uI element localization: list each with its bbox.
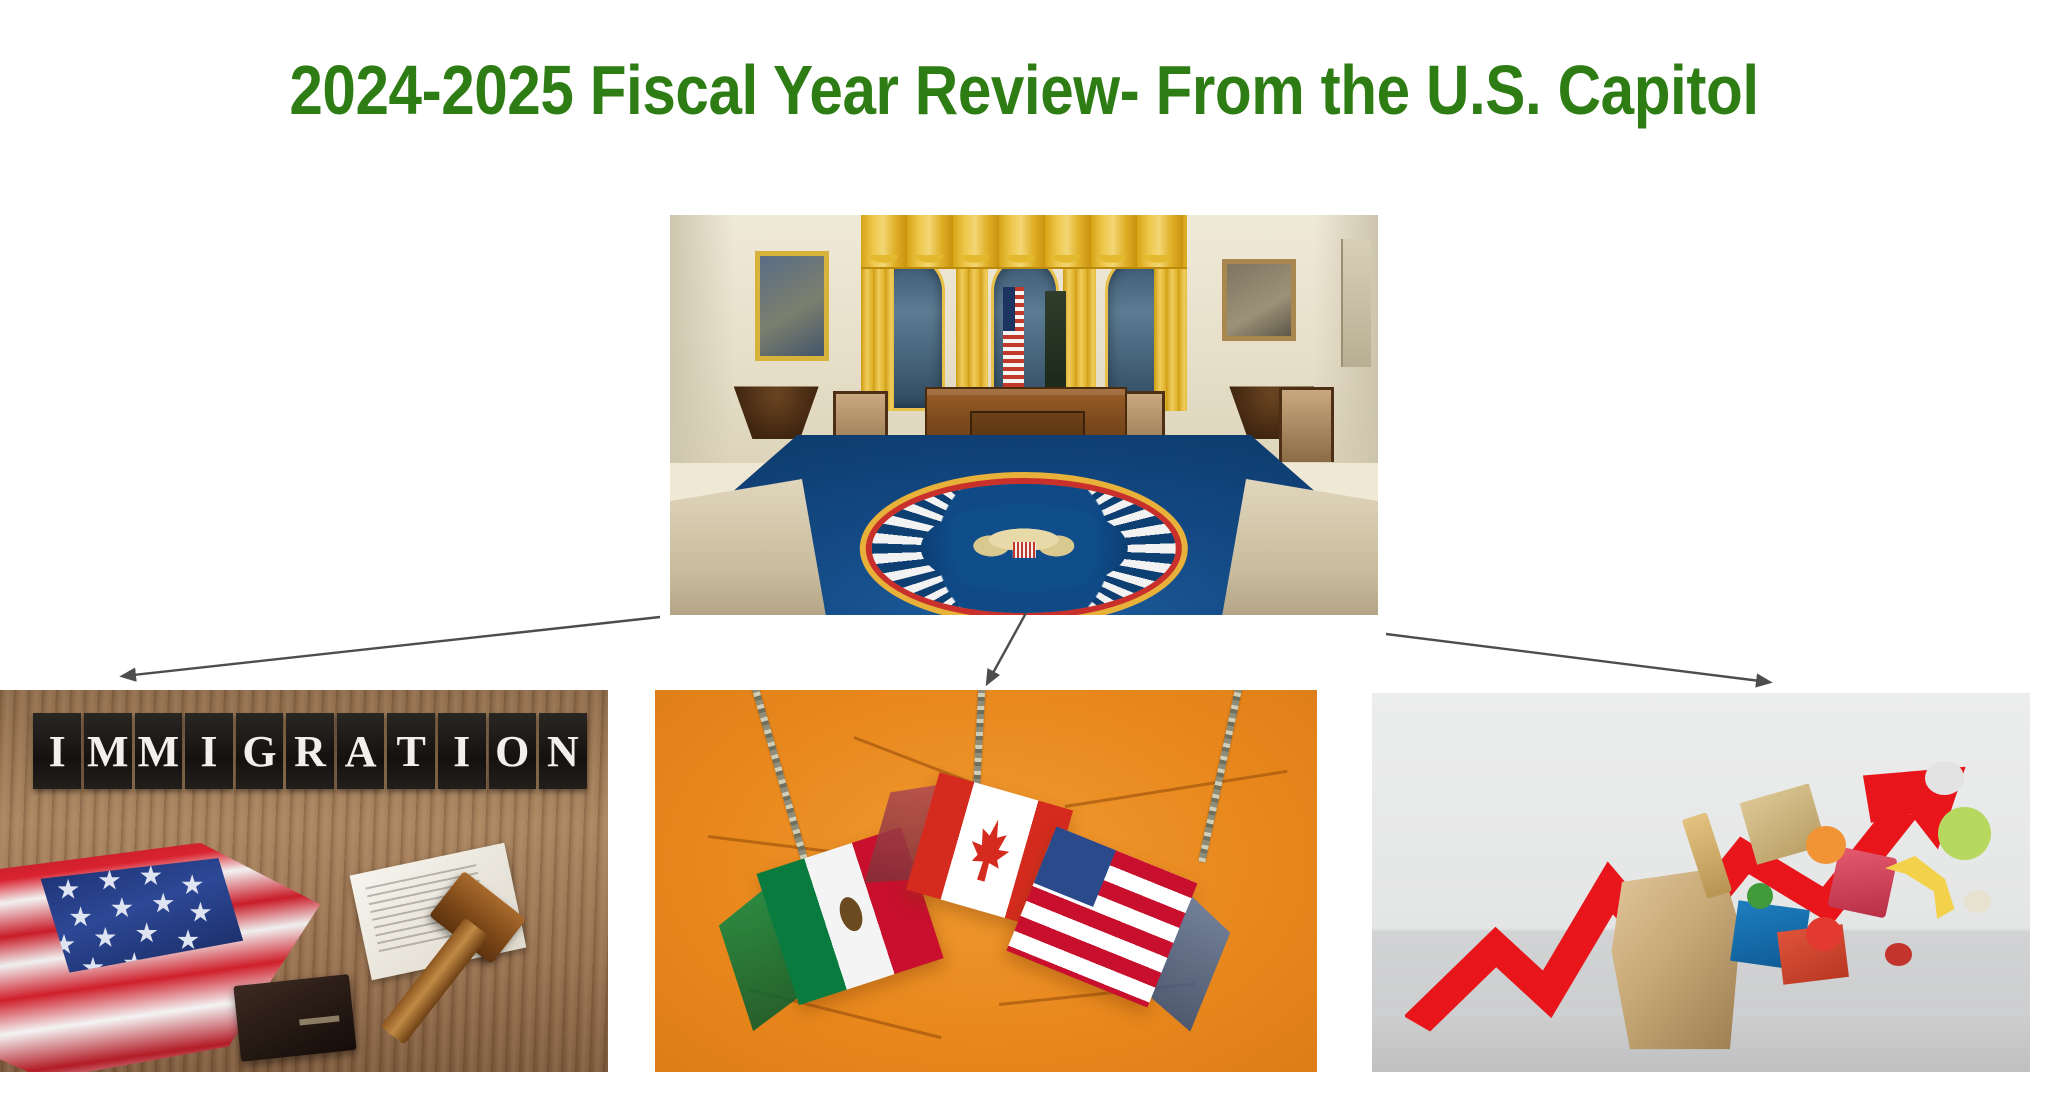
oval-office-painting-right — [1222, 259, 1296, 341]
letter-tile: M — [84, 713, 132, 789]
oval-office-painting-left — [755, 251, 829, 361]
lettuce-icon — [1938, 807, 1991, 860]
flag-star-icon — [152, 892, 174, 914]
oval-office-bookcase — [1341, 239, 1371, 367]
oval-office-sofa — [1222, 479, 1378, 615]
eagle-icon — [966, 523, 1082, 567]
flag-star-icon — [136, 922, 158, 944]
flag-star-icon — [111, 897, 133, 919]
immigration-photo[interactable]: IMMIGRATION — [0, 690, 608, 1072]
letter-tile: R — [286, 713, 334, 789]
connector-to-inflation — [1386, 634, 1768, 682]
oval-office-valance — [861, 215, 1187, 269]
oval-office-sofa — [670, 479, 826, 615]
oval-office-wall-shadow-left — [670, 215, 734, 463]
flag-star-icon — [94, 927, 116, 949]
flag-star-icon — [181, 874, 203, 896]
letter-tile: I — [33, 713, 81, 789]
oval-office-chair — [1279, 387, 1335, 462]
letter-tile: M — [135, 713, 183, 789]
page-title: 2024-2025 Fiscal Year Review- From the U… — [143, 48, 1904, 132]
oval-office-photo[interactable] — [670, 215, 1378, 615]
letter-tile: N — [539, 713, 587, 789]
garlic-icon — [1964, 890, 1990, 913]
oval-office-window-bay — [861, 215, 1187, 415]
letter-tile: I — [438, 713, 486, 789]
connector-to-immigration — [124, 617, 660, 676]
flag-star-icon — [57, 879, 79, 901]
letter-tile: A — [337, 713, 385, 789]
letter-tile: I — [185, 713, 233, 789]
immigration-letter-tiles: IMMIGRATION — [33, 713, 586, 789]
inflation-photo[interactable] — [1372, 693, 2030, 1072]
apple-icon — [1806, 917, 1842, 951]
tomato-icon — [1885, 943, 1911, 966]
presidential-seal-inner — [920, 504, 1127, 592]
presidential-flag-icon — [1045, 291, 1066, 387]
presentation-slide: 2024-2025 Fiscal Year Review- From the U… — [0, 0, 2048, 1109]
tariffs-trade-photo[interactable] — [655, 690, 1317, 1072]
passport-icon — [233, 974, 356, 1062]
letter-tile: T — [387, 713, 435, 789]
letter-tile: O — [489, 713, 537, 789]
orange-icon — [1806, 826, 1845, 864]
flag-star-icon — [98, 870, 120, 892]
flag-star-icon — [140, 865, 162, 887]
presidential-seal-icon — [872, 484, 1176, 614]
flag-star-icon — [70, 906, 92, 928]
connector-to-tariffs — [988, 613, 1026, 682]
letter-tile: G — [236, 713, 284, 789]
flag-star-icon — [177, 929, 199, 951]
us-flag-icon — [1003, 287, 1024, 391]
flag-star-icon — [189, 902, 211, 924]
